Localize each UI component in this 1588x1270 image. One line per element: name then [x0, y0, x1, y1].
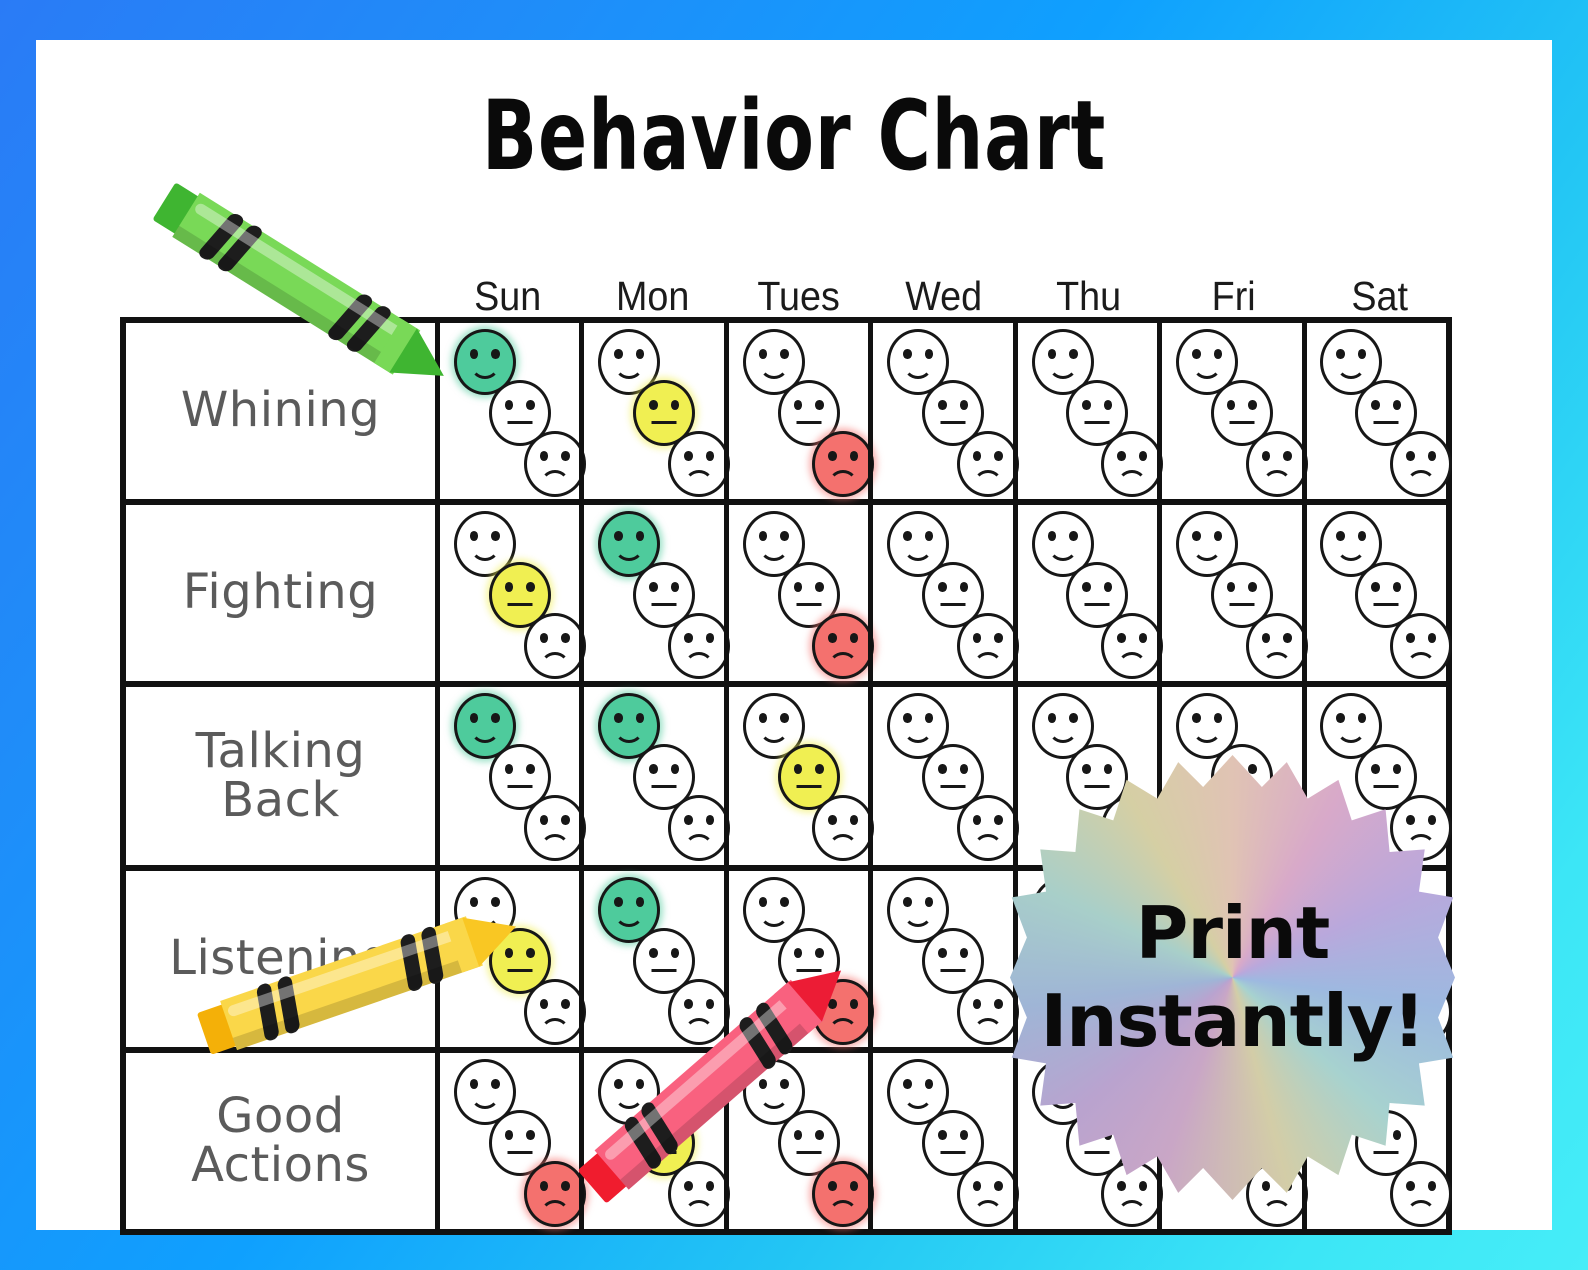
- face-sad-icon[interactable]: [668, 1161, 730, 1227]
- cell-whining-sun[interactable]: [435, 323, 579, 499]
- face-sad-icon[interactable]: [812, 1161, 874, 1227]
- face-sad-icon[interactable]: [957, 1161, 1019, 1227]
- face-sad-icon[interactable]: [524, 613, 586, 679]
- badge-line-1: Print: [1136, 890, 1330, 978]
- face-sad-icon[interactable]: [668, 795, 730, 861]
- table-row: Whining: [126, 323, 1446, 505]
- face-sad-icon[interactable]: [1390, 1161, 1452, 1227]
- face-sad-icon[interactable]: [957, 795, 1019, 861]
- face-sad-icon[interactable]: [1246, 613, 1308, 679]
- cell-whining-sat[interactable]: [1302, 323, 1446, 499]
- cell-talking-back-sun[interactable]: [435, 687, 579, 865]
- face-sad-icon[interactable]: [668, 979, 730, 1045]
- table-row: Fighting: [126, 505, 1446, 687]
- row-label-talking-back: Talking Back: [126, 687, 435, 865]
- behavior-chart-poster: Behavior Chart Sun Mon Tues Wed Thu Fri …: [0, 0, 1588, 1270]
- face-sad-icon[interactable]: [1390, 431, 1452, 497]
- cell-fighting-mon[interactable]: [579, 505, 723, 681]
- face-sad-icon[interactable]: [957, 979, 1019, 1045]
- face-sad-icon[interactable]: [957, 613, 1019, 679]
- cell-whining-wed[interactable]: [868, 323, 1012, 499]
- face-sad-icon[interactable]: [524, 431, 586, 497]
- column-header-tues: Tues: [731, 276, 865, 317]
- cell-talking-back-wed[interactable]: [868, 687, 1012, 865]
- cell-fighting-sat[interactable]: [1302, 505, 1446, 681]
- face-sad-icon[interactable]: [1101, 613, 1163, 679]
- cell-whining-tues[interactable]: [724, 323, 868, 499]
- face-sad-icon[interactable]: [1390, 613, 1452, 679]
- cell-fighting-tues[interactable]: [724, 505, 868, 681]
- face-sad-icon[interactable]: [524, 979, 586, 1045]
- cell-listening-wed[interactable]: [868, 871, 1012, 1047]
- badge-line-2: Instantly!: [1040, 978, 1424, 1066]
- face-sad-icon[interactable]: [812, 431, 874, 497]
- cell-fighting-sun[interactable]: [435, 505, 579, 681]
- cell-good-actions-wed[interactable]: [868, 1053, 1012, 1229]
- cell-fighting-fri[interactable]: [1157, 505, 1301, 681]
- row-label-good-actions: Good Actions: [126, 1053, 435, 1229]
- row-label-fighting: Fighting: [126, 505, 435, 681]
- cell-whining-thu[interactable]: [1013, 323, 1157, 499]
- column-header-fri: Fri: [1167, 276, 1301, 317]
- column-header-wed: Wed: [877, 276, 1011, 317]
- column-header-thu: Thu: [1022, 276, 1156, 317]
- face-sad-icon[interactable]: [1246, 431, 1308, 497]
- face-sad-icon[interactable]: [524, 795, 586, 861]
- face-sad-icon[interactable]: [1101, 431, 1163, 497]
- face-sad-icon[interactable]: [668, 431, 730, 497]
- page-title: Behavior Chart: [157, 88, 1430, 184]
- column-header-sun: Sun: [441, 276, 575, 317]
- column-header-sat: Sat: [1312, 276, 1446, 317]
- cell-talking-back-tues[interactable]: [724, 687, 868, 865]
- cell-whining-fri[interactable]: [1157, 323, 1301, 499]
- cell-fighting-wed[interactable]: [868, 505, 1012, 681]
- cell-good-actions-sun[interactable]: [435, 1053, 579, 1229]
- cell-fighting-thu[interactable]: [1013, 505, 1157, 681]
- cell-whining-mon[interactable]: [579, 323, 723, 499]
- face-sad-icon[interactable]: [524, 1161, 586, 1227]
- face-sad-icon[interactable]: [668, 613, 730, 679]
- face-sad-icon[interactable]: [812, 795, 874, 861]
- face-sad-icon[interactable]: [812, 613, 874, 679]
- column-header-mon: Mon: [586, 276, 720, 317]
- face-sad-icon[interactable]: [957, 431, 1019, 497]
- cell-listening-mon[interactable]: [579, 871, 723, 1047]
- cell-talking-back-mon[interactable]: [579, 687, 723, 865]
